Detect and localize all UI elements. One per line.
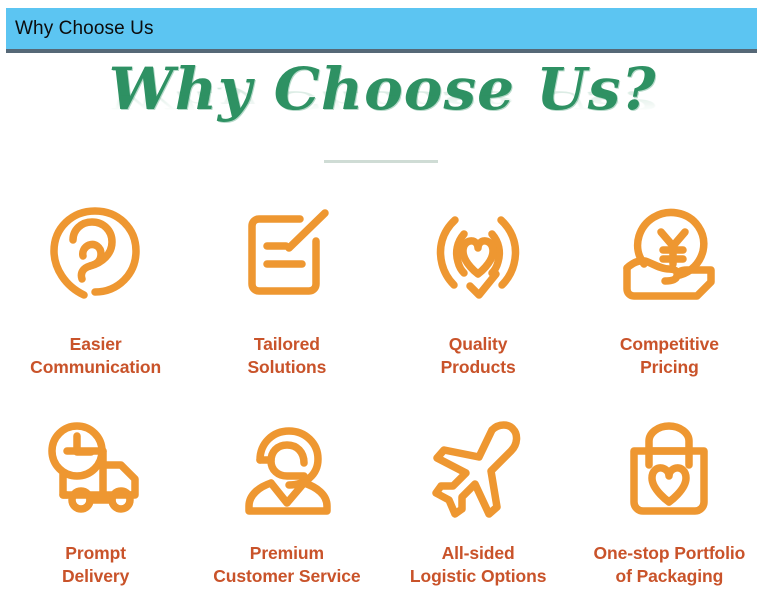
feature-label: Tailored Solutions (247, 333, 326, 380)
feature-label: All-sided Logistic Options (410, 542, 546, 589)
feature-label: One-stop Portfolio of Packaging (593, 542, 745, 589)
feature-item-premium-customer-service[interactable]: Premium Customer Service (191, 412, 382, 608)
feature-label: Quality Products (441, 333, 516, 380)
hand-yen-coin-icon (619, 196, 719, 316)
title-divider (324, 160, 438, 163)
titlebar-strip: Why Choose Us (6, 8, 757, 53)
feature-label: Prompt Delivery (62, 542, 129, 589)
page-title: Why Choose Us? (109, 60, 657, 118)
feature-item-logistic-options[interactable]: All-sided Logistic Options (383, 412, 574, 608)
heart-check-signal-icon (430, 196, 526, 316)
feature-item-quality-products[interactable]: Quality Products (383, 196, 574, 412)
delivery-truck-clock-icon (45, 412, 147, 528)
feature-item-easier-communication[interactable]: Easier Communication (0, 196, 191, 412)
window-title: Why Choose Us (15, 19, 154, 38)
hero-heading-block: Why Choose Us? Why Choose Us? (0, 60, 765, 170)
feature-label: Premium Customer Service (213, 542, 360, 589)
feature-item-prompt-delivery[interactable]: Prompt Delivery (0, 412, 191, 608)
features-grid: Easier Communication Tailored Solutions (0, 196, 765, 608)
document-pen-icon (241, 196, 333, 316)
window-titlebar: Why Choose Us (6, 8, 757, 57)
feature-item-packaging-portfolio[interactable]: One-stop Portfolio of Packaging (574, 412, 765, 608)
feature-item-tailored-solutions[interactable]: Tailored Solutions (191, 196, 382, 412)
feature-item-competitive-pricing[interactable]: Competitive Pricing (574, 196, 765, 412)
ear-listening-icon (50, 196, 142, 316)
shopping-bag-heart-icon (620, 412, 718, 528)
headset-agent-icon (238, 412, 336, 528)
feature-label: Competitive Pricing (620, 333, 719, 380)
airplane-icon (429, 412, 527, 528)
feature-label: Easier Communication (30, 333, 161, 380)
